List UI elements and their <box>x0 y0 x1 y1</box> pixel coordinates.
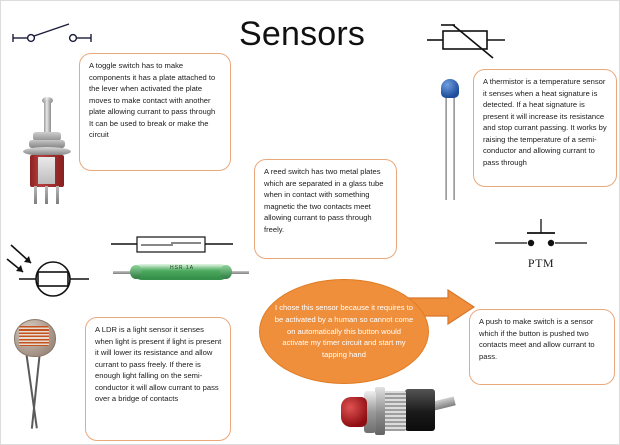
thermistor-description: A thermistor is a temperature sensor it … <box>473 69 617 187</box>
reed-switch-symbol <box>111 231 233 259</box>
thermistor-symbol <box>425 19 511 61</box>
push-to-make-description: A push to make switch is a sensor which … <box>469 309 615 385</box>
toggle-switch-symbol <box>9 17 101 51</box>
ldr-description: A LDR is a light sensor it senses when l… <box>85 317 231 441</box>
slide-canvas: Sensors <box>0 0 620 445</box>
ldr-description-text: A LDR is a light sensor it senses when l… <box>95 324 222 405</box>
page-title: Sensors <box>239 15 365 54</box>
ptm-symbol-label: PTM <box>491 256 591 271</box>
toggle-description-text: A toggle switch has to make components i… <box>89 60 222 118</box>
toggle-switch-photo <box>15 97 77 205</box>
ldr-photo <box>9 317 75 429</box>
toggle-description-text-2: It can be used to break or make the circ… <box>89 118 222 141</box>
ldr-symbol <box>5 239 91 297</box>
ptm-description-text: A push to make switch is a sensor which … <box>479 316 606 362</box>
reed-switch-photo: HSR 1A <box>113 259 249 285</box>
reed-switch-marking: HSR 1A <box>157 265 207 271</box>
reason-callout-oval: I chose this sensor because it requires … <box>259 279 429 384</box>
reed-description-text: A reed switch has two metal plates which… <box>264 166 388 235</box>
push-to-make-switch-symbol <box>491 219 591 255</box>
reed-switch-description: A reed switch has two metal plates which… <box>254 159 397 259</box>
thermistor-description-text: A thermistor is a temperature sensor it … <box>483 76 608 168</box>
toggle-switch-description: A toggle switch has to make components i… <box>79 53 231 171</box>
reason-callout-text: I chose this sensor because it requires … <box>274 302 414 361</box>
thermistor-photo <box>435 79 465 201</box>
